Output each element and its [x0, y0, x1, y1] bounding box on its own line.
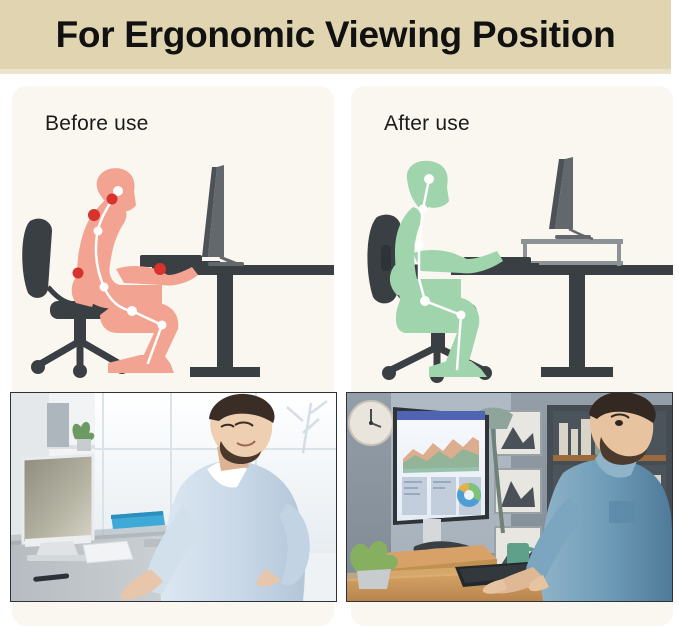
shelf-box — [47, 403, 69, 447]
photo-before-use — [10, 392, 337, 602]
monitor-riser-after — [521, 239, 623, 266]
photo-before-scene — [11, 393, 336, 601]
monitor-after — [549, 157, 593, 239]
keyboard — [83, 541, 133, 563]
monitor-before — [202, 165, 244, 266]
panel-before-use: Before use — [12, 86, 334, 385]
illustration-after-use — [351, 157, 673, 385]
header-banner-underline — [0, 69, 671, 74]
illustration-before-use — [12, 157, 334, 385]
dashboard-topbar — [397, 411, 485, 420]
page-title: For Ergonomic Viewing Position — [0, 0, 671, 69]
panel-label-after: After use — [384, 112, 470, 136]
person-figure-after — [390, 161, 503, 377]
keyboard-before — [140, 255, 202, 262]
photo-after-scene — [347, 393, 672, 601]
photo-after-use — [346, 392, 673, 602]
desk-after — [451, 265, 673, 377]
panel-after-use: After use — [351, 86, 673, 385]
panel-label-before: Before use — [45, 112, 149, 136]
wall-clock — [349, 401, 393, 445]
